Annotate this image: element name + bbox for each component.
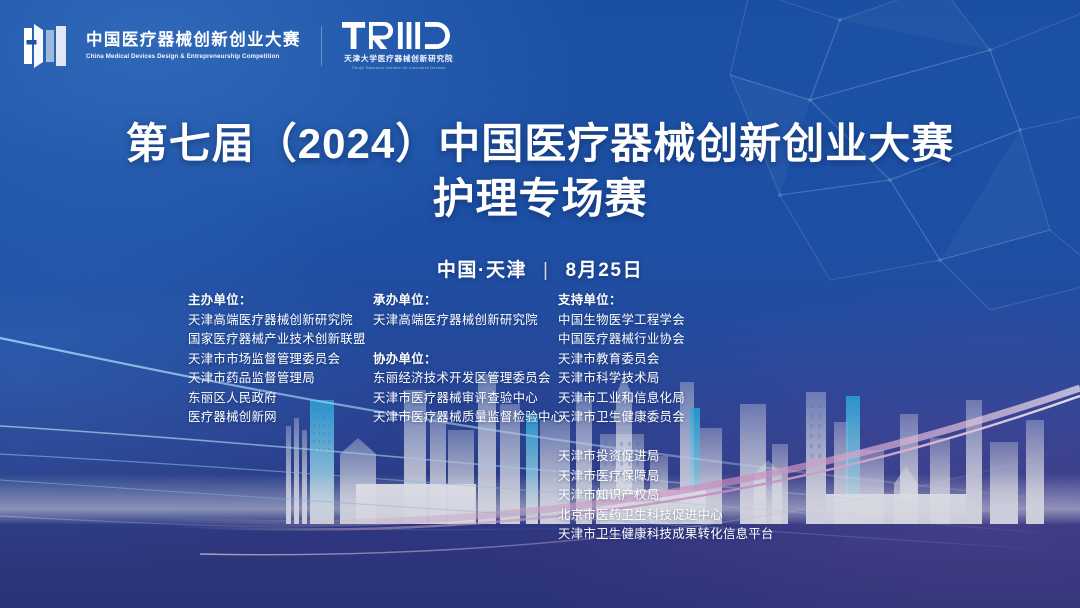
logo-divider (321, 26, 322, 66)
list-item: 医疗器械创新网 (188, 408, 373, 428)
column-spacer (373, 330, 558, 350)
list-item: 天津市科学技术局 (558, 369, 690, 389)
primary-logo-text: 中国医疗器械创新创业大赛 China Medical Devices Desig… (86, 31, 301, 61)
subtitle-separator: | (543, 260, 550, 282)
list-item: 北京市医药卫生科技促进中心 (558, 506, 774, 526)
host-column: 主办单位： 天津高端医疗器械创新研究院 国家医疗器械产业技术创新联盟 天津市市场… (188, 291, 373, 428)
title-line-2: 护理专场赛 (0, 171, 1080, 226)
title-line-1: 第七届（2024）中国医疗器械创新创业大赛 (0, 116, 1080, 171)
list-item: 天津市工业和信息化局 (558, 389, 690, 409)
supporters-sub-column-a: 支持单位： 中国生物医学工程学会 中国医疗器械行业协会 天津市教育委员会 天津市… (558, 291, 690, 428)
supporters-sub-column-b: 天津市投资促进局 天津市医疗保障局 天津市知识产权局 北京市医药卫生科技促进中心… (558, 428, 774, 545)
list-item: 中国医疗器械行业协会 (558, 330, 690, 350)
event-date: 8月25日 (565, 260, 643, 281)
page-title: 第七届（2024）中国医疗器械创新创业大赛 护理专场赛 (0, 116, 1080, 227)
list-item: 天津市卫生健康委员会 (558, 408, 690, 428)
supporters-heading: 支持单位： (558, 291, 690, 311)
event-subtitle: 中国·天津 | 8月25日 (0, 255, 1080, 282)
list-item: 天津市投资促进局 (558, 447, 774, 467)
event-location: 中国·天津 (437, 260, 527, 281)
organizer-column: 承办单位： 天津高端医疗器械创新研究院 协办单位： 东丽经济技术开发区管理委员会… (373, 291, 558, 428)
list-item: 天津市医疗器械质量监督检验中心 (373, 408, 558, 428)
list-item: 天津市医疗保障局 (558, 467, 774, 487)
open-book-door-logo-icon (22, 22, 70, 70)
secondary-logo: 天津大学医疗器械创新研究院 Tianjin Research Institute… (342, 22, 456, 70)
triid-wordmark-icon (342, 22, 456, 49)
list-item: 天津市市场监督管理委员会 (188, 350, 373, 370)
primary-logo-en: China Medical Devices Design & Entrepren… (86, 53, 301, 61)
column-spacer (558, 428, 774, 448)
list-item: 东丽经济技术开发区管理委员会 (373, 369, 558, 389)
coorganizer-heading: 协办单位： (373, 350, 558, 370)
organizer-heading: 承办单位： (373, 291, 558, 311)
list-item: 东丽区人民政府 (188, 389, 373, 409)
list-item: 天津市医疗器械审评查验中心 (373, 389, 558, 409)
event-banner-poster: 中国医疗器械创新创业大赛 China Medical Devices Desig… (0, 0, 1080, 608)
list-item: 天津市教育委员会 (558, 350, 690, 370)
secondary-logo-cn: 天津大学医疗器械创新研究院 (344, 53, 453, 64)
list-item: 中国生物医学工程学会 (558, 311, 690, 331)
list-item: 天津市药品监督管理局 (188, 369, 373, 389)
list-item: 天津高端医疗器械创新研究院 (188, 311, 373, 331)
list-item: 天津高端医疗器械创新研究院 (373, 311, 558, 331)
secondary-logo-en: Tianjin Research Institute for Innovativ… (352, 66, 446, 70)
organizers-block: 主办单位： 天津高端医疗器械创新研究院 国家医疗器械产业技术创新联盟 天津市市场… (188, 291, 774, 545)
primary-logo-cn: 中国医疗器械创新创业大赛 (86, 31, 301, 50)
host-heading: 主办单位： (188, 291, 373, 311)
supporters-column: 支持单位： 中国生物医学工程学会 中国医疗器械行业协会 天津市教育委员会 天津市… (558, 291, 774, 545)
logo-bar: 中国医疗器械创新创业大赛 China Medical Devices Desig… (22, 22, 456, 70)
list-item: 天津市知识产权局 (558, 486, 774, 506)
list-item: 国家医疗器械产业技术创新联盟 (188, 330, 373, 350)
list-item: 天津市卫生健康科技成果转化信息平台 (558, 525, 774, 545)
